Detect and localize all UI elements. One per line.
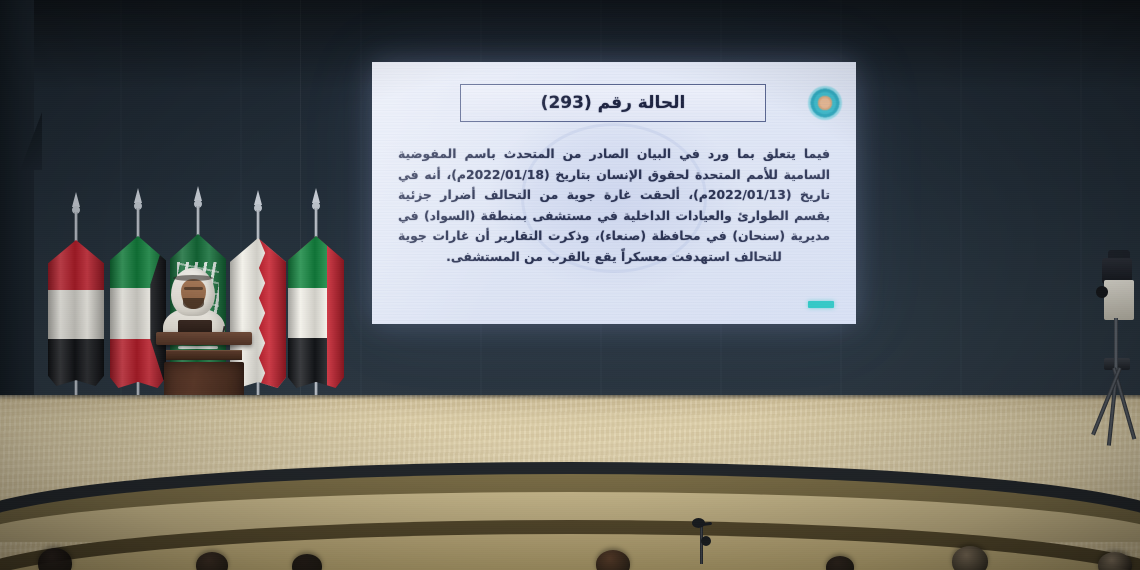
speaker-brow <box>184 287 203 290</box>
speaker-beard <box>183 298 204 309</box>
flagpole-finial <box>72 192 80 207</box>
broadcast-camera-rig <box>1088 258 1140 458</box>
flagpole-finial <box>134 188 142 203</box>
podium-nameplate <box>166 350 242 360</box>
flag-stripe <box>48 290 104 340</box>
slide-title: الحالة رقم (293) <box>541 93 686 113</box>
tripod-leg <box>1091 367 1122 435</box>
flag-green-band <box>288 236 327 288</box>
coalition-emblem-icon <box>808 86 842 120</box>
flagpole-finial <box>254 190 262 205</box>
flagpole-finial <box>194 186 202 201</box>
projection-slide: الحالة رقم (293) فيما يتعلق بما ورد في ا… <box>372 62 856 324</box>
flag-cloth <box>110 236 166 388</box>
camera-housing <box>1104 280 1134 320</box>
flag-stripe <box>110 236 166 288</box>
flag-uae <box>286 188 346 428</box>
audience-head <box>38 548 72 570</box>
flag-stripe <box>288 236 344 288</box>
flag-stripe <box>288 288 344 338</box>
flag-stripe <box>110 339 166 388</box>
flag-stripe <box>48 339 104 386</box>
conference-scene: الحالة رقم (293) فيما يتعلق بما ورد في ا… <box>0 0 1140 570</box>
slide-title-box: الحالة رقم (293) <box>460 84 766 122</box>
flag-stripe <box>48 240 104 290</box>
flag-serrated-band <box>251 238 286 388</box>
flag-hoist-band <box>327 236 344 388</box>
flag-hoist-trapezoid <box>110 236 166 388</box>
audience-head <box>952 546 988 570</box>
stage-microphone-stand <box>690 518 714 564</box>
slide-body-text: فيما يتعلق بما ورد في البيان الصادر من ا… <box>398 144 830 267</box>
slide-accent-mark <box>808 301 834 308</box>
flag-yemen <box>46 192 106 427</box>
left-wall-pillar <box>0 0 34 400</box>
audience-head <box>596 550 630 570</box>
flag-cloth <box>48 240 104 386</box>
flag-kuwait <box>108 188 168 428</box>
flag-cloth <box>288 236 344 388</box>
microphone-icon <box>692 518 705 528</box>
speaker-agal <box>173 275 213 281</box>
flag-stripe <box>288 338 344 388</box>
mic-adjuster-knob <box>701 536 711 546</box>
camera-lens-icon <box>1096 286 1108 298</box>
podium-top <box>156 332 252 345</box>
flagpole-finial <box>312 188 320 203</box>
